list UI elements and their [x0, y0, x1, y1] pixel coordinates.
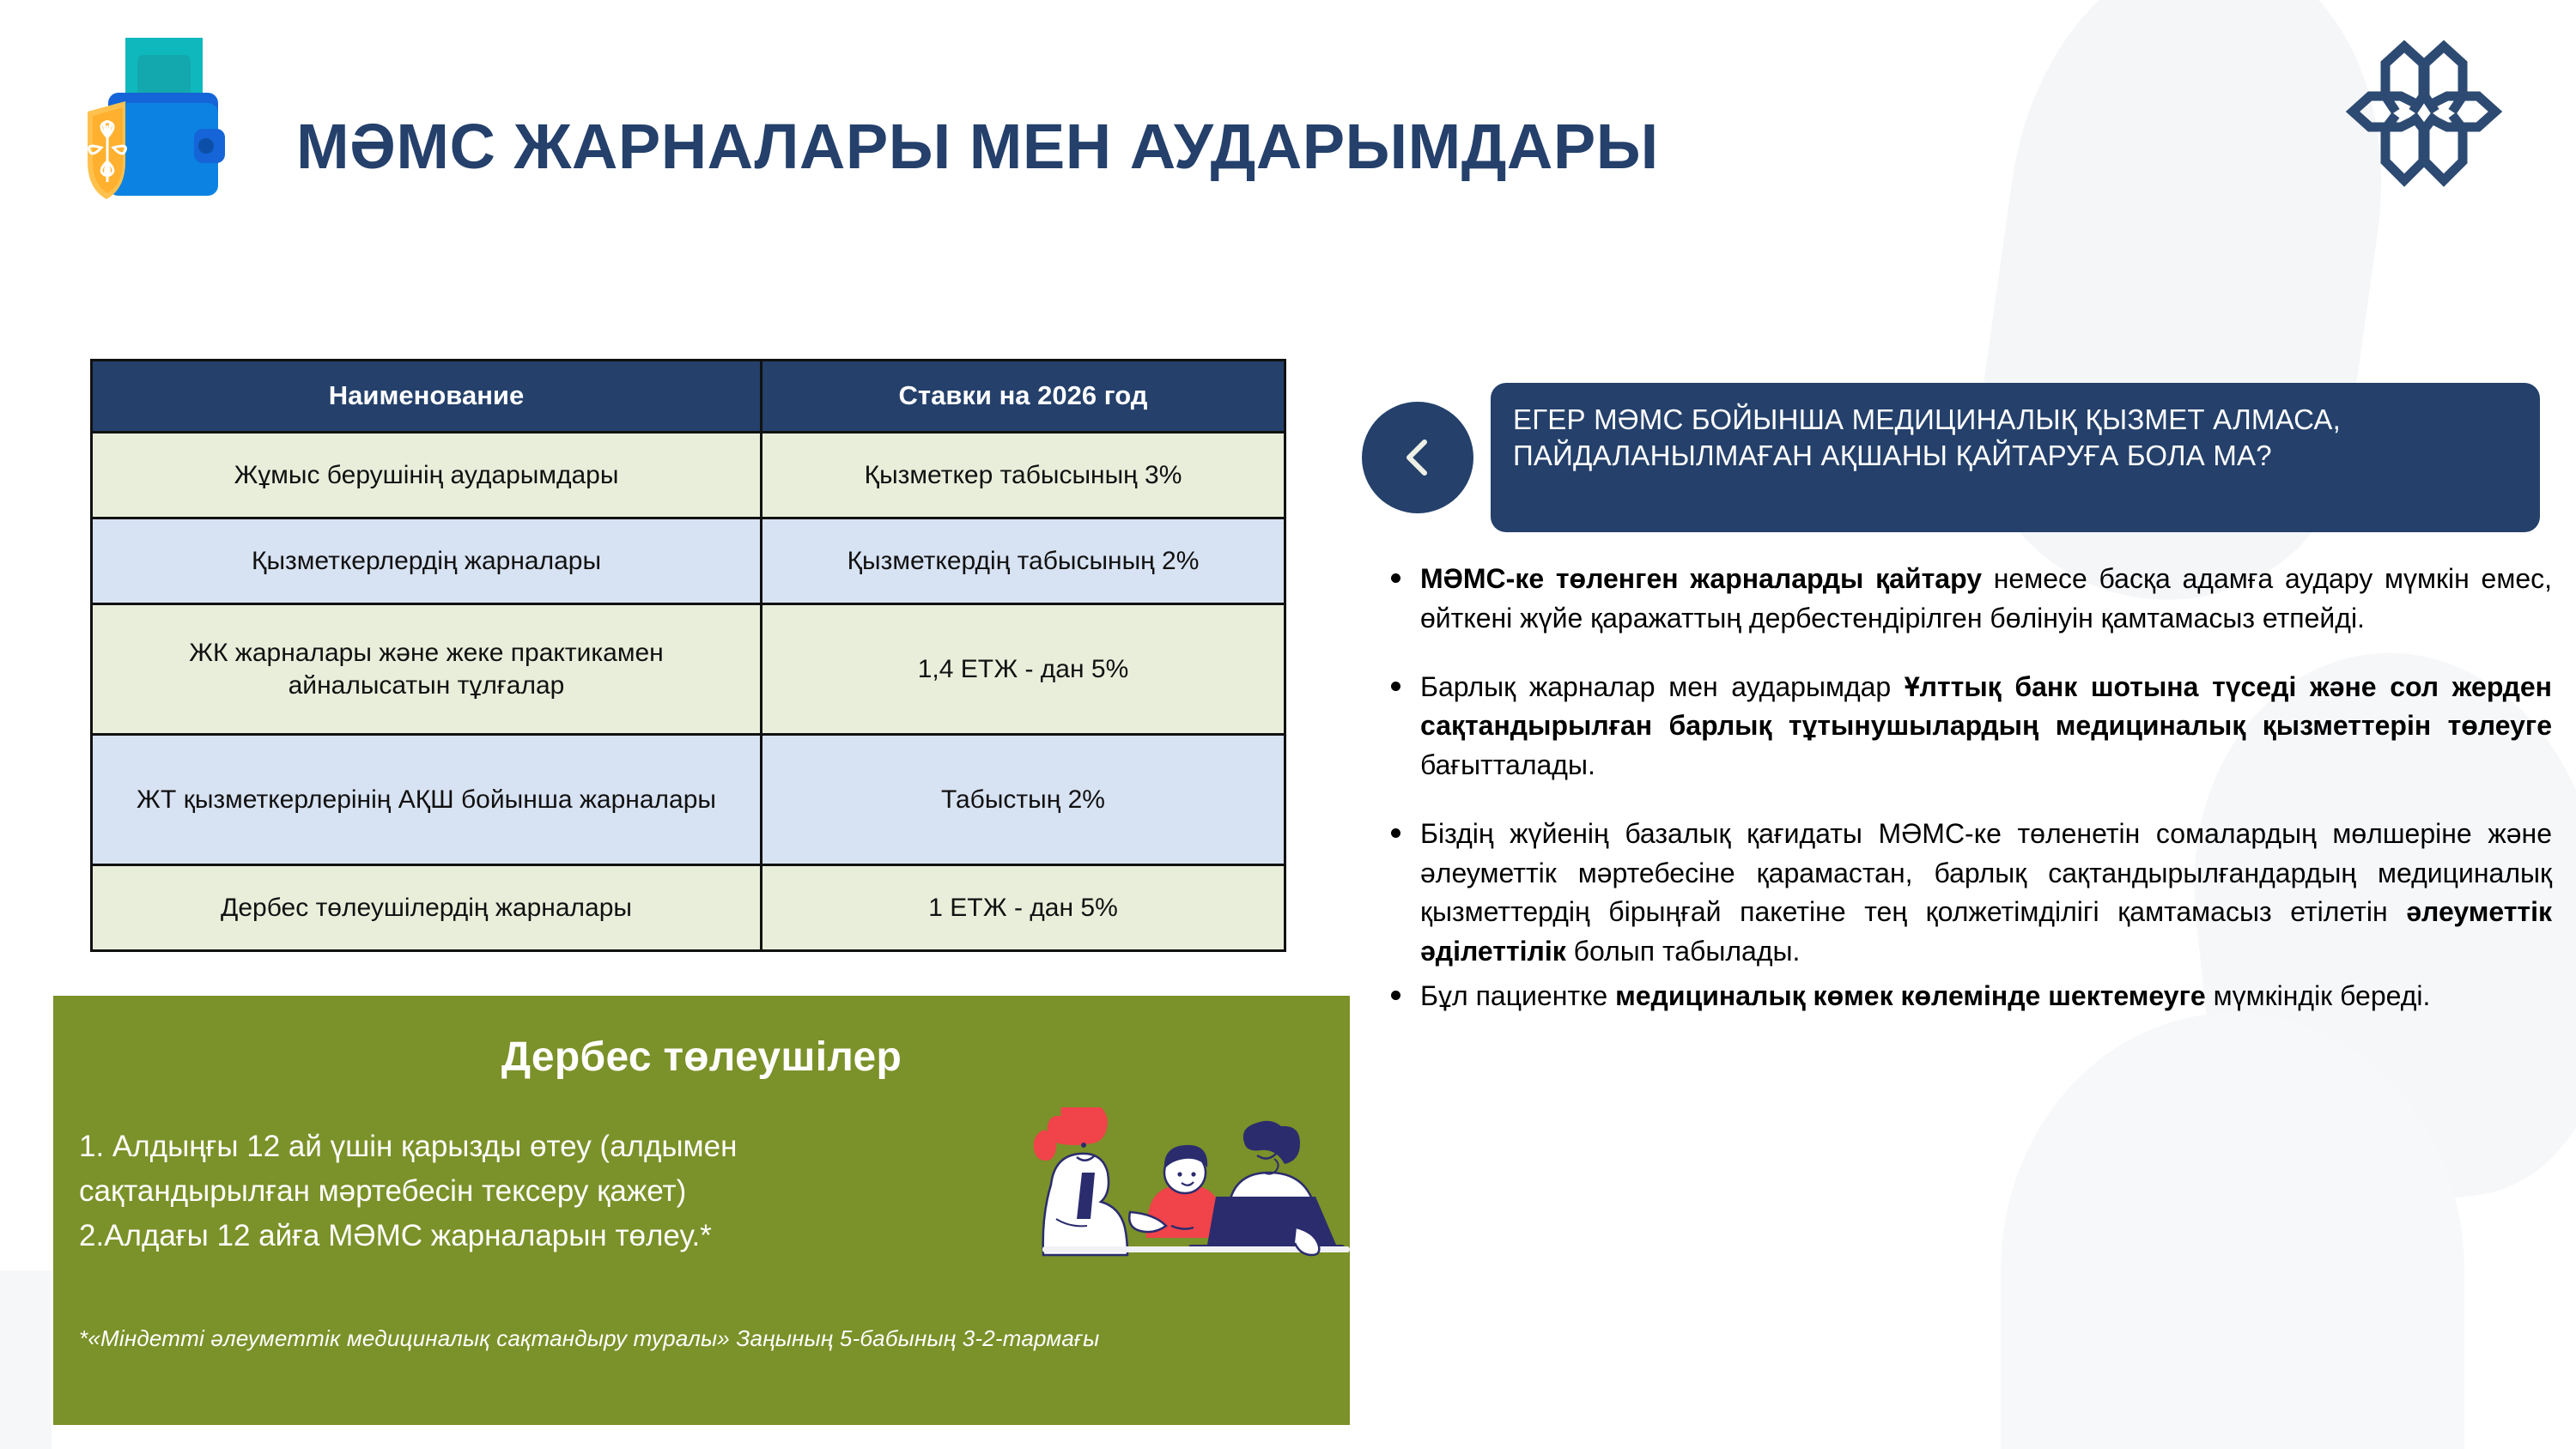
question-callout: ЕГЕР МӘМС БОЙЫНША МЕДИЦИНАЛЫҚ ҚЫЗМЕТ АЛМ…	[1491, 383, 2540, 532]
question-text: ЕГЕР МӘМС БОЙЫНША МЕДИЦИНАЛЫҚ ҚЫЗМЕТ АЛМ…	[1513, 402, 2518, 474]
list-item: Бұл пациентке медициналық көмек көлемінд…	[1384, 977, 2552, 1016]
kazakh-ornament-logo	[2334, 29, 2514, 197]
bullet-1-bold: МӘМС-ке төленген жарналарды қайтару	[1420, 563, 1982, 594]
bullet-3-text-a: Біздің жүйенің базалық қағидаты МӘМС-ке …	[1420, 818, 2552, 928]
table-row: ЖТ қызметкерлерінің АҚШ бойынша жарналар…	[92, 735, 1285, 865]
rates-table: Наименование Ставки на 2026 год Жұмыс бе…	[90, 359, 1286, 952]
bullet-2-text-a: Барлық жарналар мен аударымдар	[1420, 671, 1905, 702]
page-title: МӘМС ЖАРНАЛАРЫ МЕН АУДАРЫМДАРЫ	[296, 110, 1659, 183]
page-header: МӘМС ЖАРНАЛАРЫ МЕН АУДАРЫМДАРЫ	[0, 0, 2576, 258]
table-row: ЖК жарналары және жеке практикамен айнал…	[92, 604, 1285, 735]
green-panel-footnote: *«Міндетті әлеуметтік медициналық сақтан…	[79, 1325, 1315, 1352]
table-row: Жұмыс берушінің аударымдары Қызметкер та…	[92, 433, 1285, 518]
green-panel-step-1b: сақтандырылған мәртебесін тексеру қажет)	[79, 1169, 1049, 1214]
table-cell-rate: Табыстың 2%	[762, 735, 1285, 865]
table-row: Қызметкерлердің жарналары Қызметкердің т…	[92, 518, 1285, 604]
table-cell-rate: 1,4 ЕТЖ - дан 5%	[762, 604, 1285, 735]
table-cell-rate: Қызметкердің табысының 2%	[762, 518, 1285, 604]
slide-root: МӘМС ЖАРНАЛАРЫ МЕН АУДАРЫМДАРЫ	[0, 0, 2576, 1449]
bullet-dot-icon	[1391, 573, 1400, 583]
green-panel-steps: 1. Алдыңғы 12 ай үшін қарызды өтеу (алды…	[79, 1125, 1049, 1258]
green-panel-title: Дербес төлеушілер	[53, 1034, 1350, 1081]
bullet-3-text-b: болып табылады.	[1566, 936, 1801, 967]
table-cell-name: Қызметкерлердің жарналары	[92, 518, 762, 604]
bullet-dot-icon	[1391, 828, 1400, 838]
background-watermark-shape-4	[0, 1270, 52, 1449]
green-panel-step-1a: 1. Алдыңғы 12 ай үшін қарызды өтеу (алды…	[79, 1125, 1049, 1169]
green-panel-step-2: 2.Алдағы 12 айға МӘМС жарналарын төлеу.*	[79, 1214, 1049, 1258]
table-header-row: Наименование Ставки на 2026 год	[92, 361, 1285, 433]
three-people-at-laptop-illustration	[1020, 1107, 1372, 1292]
table-cell-name: ЖК жарналары және жеке практикамен айнал…	[92, 604, 762, 735]
bullet-4-text-a: Бұл пациентке	[1420, 980, 1615, 1011]
table-header-rate: Ставки на 2026 год	[762, 361, 1285, 433]
bullet-2-text-b: бағытталады.	[1420, 749, 1595, 780]
list-item: Біздің жүйенің базалық қағидаты МӘМС-ке …	[1384, 815, 2552, 972]
bullet-list: МӘМС-ке төленген жарналарды қайтару неме…	[1384, 560, 2552, 1016]
background-watermark-shape-3	[2001, 1013, 2464, 1449]
table-cell-rate: 1 ЕТЖ - дан 5%	[762, 865, 1285, 951]
table-cell-name: Дербес төлеушілердің жарналары	[92, 865, 762, 951]
wallet-shield-icon	[76, 33, 256, 204]
table-cell-name: Жұмыс берушінің аударымдары	[92, 433, 762, 518]
table-row: Дербес төлеушілердің жарналары 1 ЕТЖ - д…	[92, 865, 1285, 951]
list-item: Барлық жарналар мен аударымдар Ұлттық ба…	[1384, 668, 2552, 785]
bullet-dot-icon	[1391, 991, 1400, 1000]
table-header-name: Наименование	[92, 361, 762, 433]
list-item: МӘМС-ке төленген жарналарды қайтару неме…	[1384, 560, 2552, 639]
table-cell-name: ЖТ қызметкерлерінің АҚШ бойынша жарналар…	[92, 735, 762, 865]
table-cell-rate: Қызметкер табысының 3%	[762, 433, 1285, 518]
bullet-4-bold: медициналық көмек көлемінде шектемеуге	[1615, 980, 2206, 1011]
bullet-4-text-b: мүмкіндік береді.	[2206, 980, 2431, 1011]
chevron-left-icon[interactable]	[1362, 402, 1473, 513]
bullet-dot-icon	[1391, 682, 1400, 691]
